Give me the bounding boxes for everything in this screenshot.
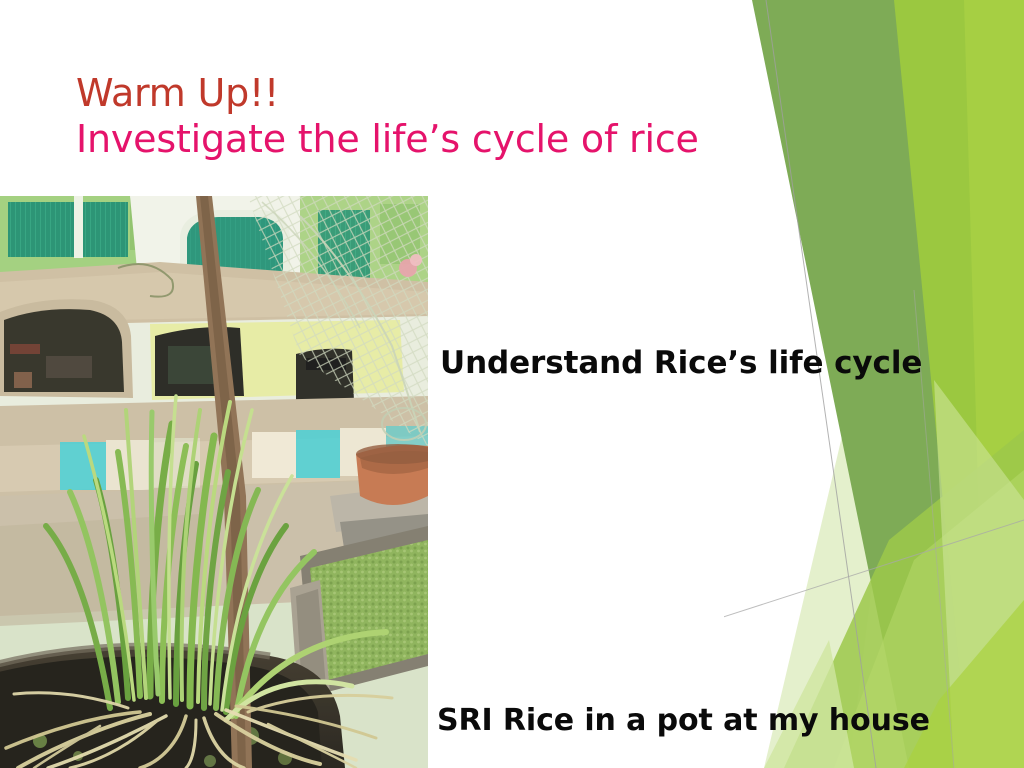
- green-angular-ribbon-decoration: [724, 0, 1024, 768]
- title-line-investigate: Investigate the life’s cycle of rice: [76, 120, 699, 160]
- deco-shape-yellow-green-edge: [964, 0, 1024, 768]
- deco-shape-bright-green: [894, 0, 1024, 768]
- deco-shape-medium-green: [752, 0, 1024, 768]
- deco-hairline-2: [724, 520, 1024, 620]
- rice-plant-photo: [0, 196, 428, 768]
- heading-understand-rice-life-cycle: Understand Rice’s life cycle: [440, 345, 922, 381]
- slide-title-block: Warm Up!! Investigate the life’s cycle o…: [76, 74, 699, 159]
- title-line-warm-up: Warm Up!!: [76, 74, 699, 114]
- deco-shape-soft-light-mid: [934, 380, 1024, 768]
- photo-caption-sri-rice: SRI Rice in a pot at my house: [437, 703, 930, 738]
- deco-hairline-1: [766, 0, 876, 768]
- presentation-slide: Warm Up!! Investigate the life’s cycle o…: [0, 0, 1024, 768]
- deco-shape-bottom-bright: [904, 600, 1024, 768]
